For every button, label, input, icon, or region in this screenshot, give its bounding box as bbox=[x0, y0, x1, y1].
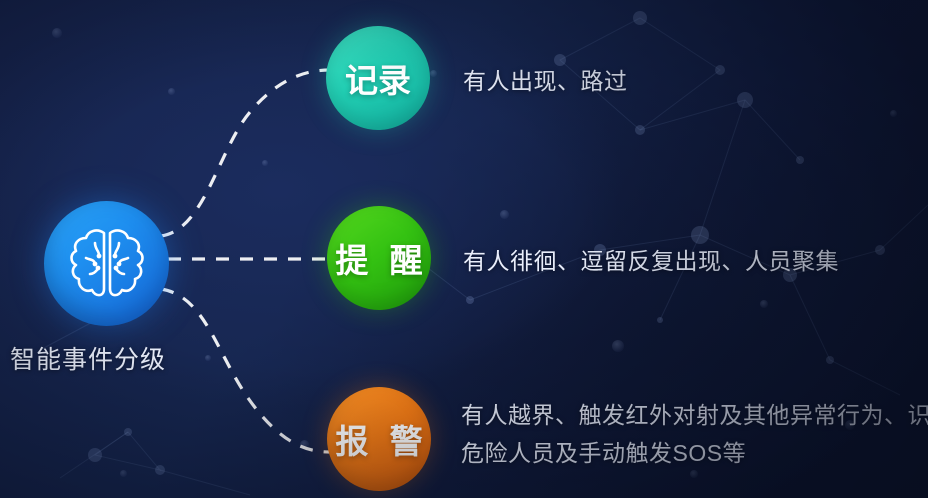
description-line: 有人越界、触发红外对射及其他异常行为、识别出 bbox=[461, 396, 928, 434]
description-line: 有人徘徊、逗留反复出现、人员聚集 bbox=[463, 242, 839, 280]
node-alarm-label: 报 警 bbox=[329, 415, 428, 463]
node-record[interactable]: 记录 bbox=[326, 26, 430, 130]
hub-brain-node[interactable] bbox=[44, 201, 169, 326]
node-remind[interactable]: 提 醒 bbox=[327, 206, 431, 310]
node-alarm-description: 有人越界、触发红外对射及其他异常行为、识别出 危险人员及手动触发SOS等 bbox=[461, 396, 928, 472]
description-line: 有人出现、路过 bbox=[463, 62, 628, 100]
infographic-canvas: 智能事件分级 记录 有人出现、路过 提 醒 有人徘徊、逗留反复出现、人员聚集 报… bbox=[0, 0, 928, 498]
node-record-description: 有人出现、路过 bbox=[463, 62, 628, 100]
brain-icon bbox=[65, 222, 149, 306]
node-record-label: 记录 bbox=[345, 54, 411, 102]
description-line: 危险人员及手动触发SOS等 bbox=[461, 434, 928, 472]
connector-to-record bbox=[161, 70, 330, 236]
node-alarm[interactable]: 报 警 bbox=[327, 387, 431, 491]
node-remind-description: 有人徘徊、逗留反复出现、人员聚集 bbox=[463, 242, 839, 280]
node-remind-label: 提 醒 bbox=[329, 234, 428, 282]
hub-label: 智能事件分级 bbox=[10, 340, 230, 376]
